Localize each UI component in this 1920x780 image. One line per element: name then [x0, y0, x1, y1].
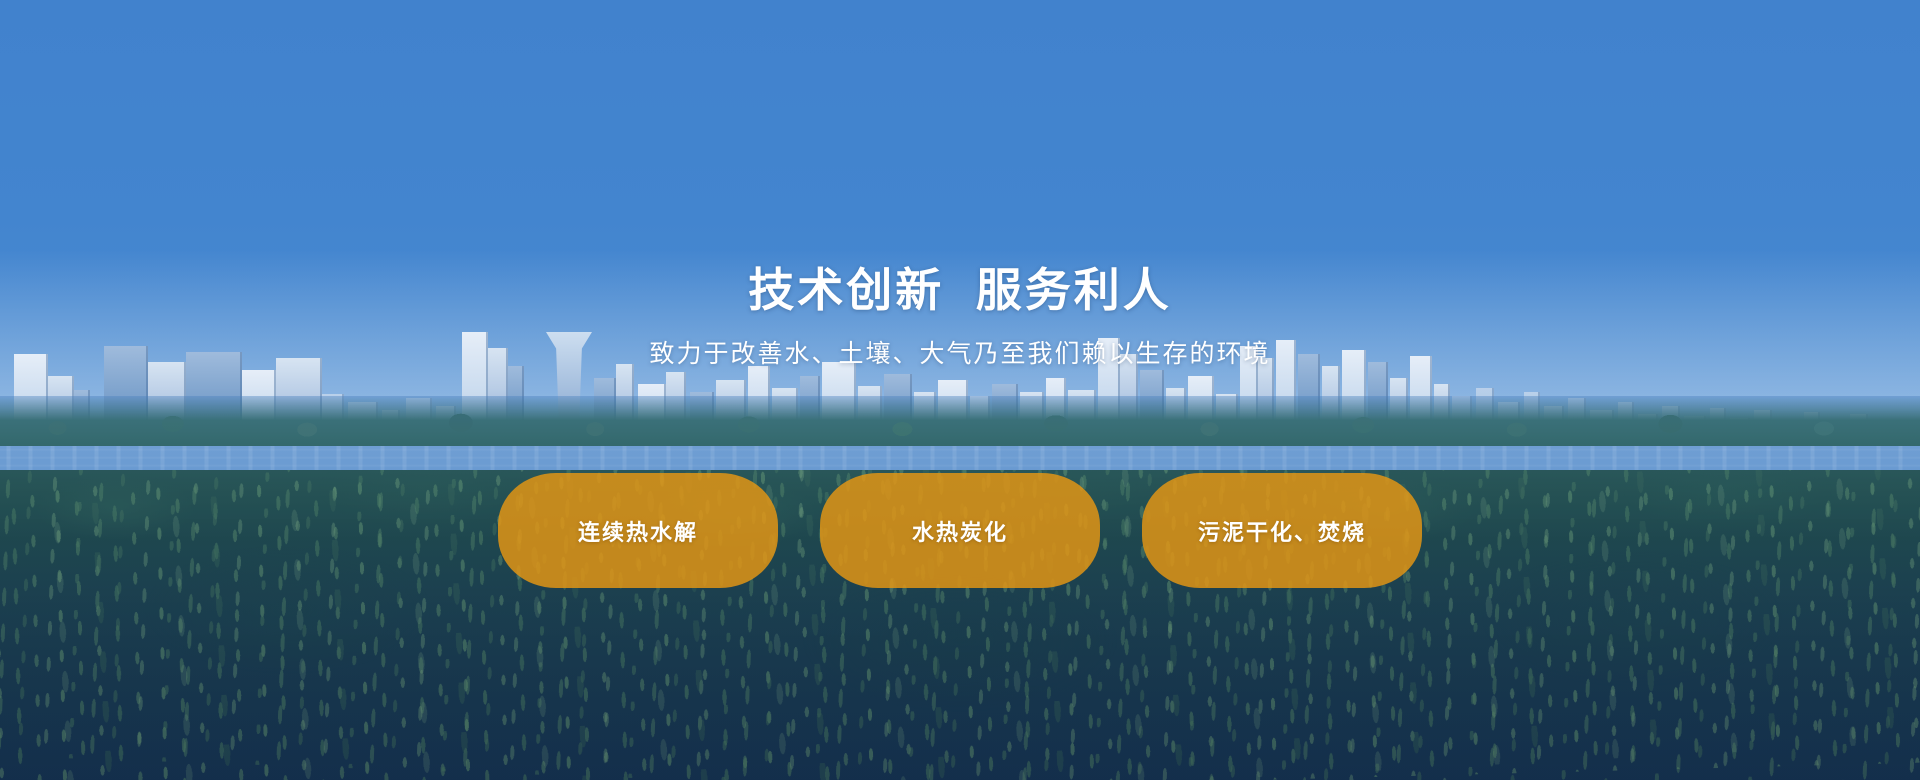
hero-title: 技术创新 服务利人: [748, 265, 1172, 316]
hero-subtitle: 致力于改善水、土壤、大气乃至我们赖以生存的环境: [649, 338, 1270, 371]
hero-content: 技术创新 服务利人 致力于改善水、土壤、大气乃至我们赖以生存的环境: [0, 0, 1920, 780]
hero-banner: 技术创新 服务利人 致力于改善水、土壤、大气乃至我们赖以生存的环境 连续热水解 …: [0, 0, 1920, 780]
